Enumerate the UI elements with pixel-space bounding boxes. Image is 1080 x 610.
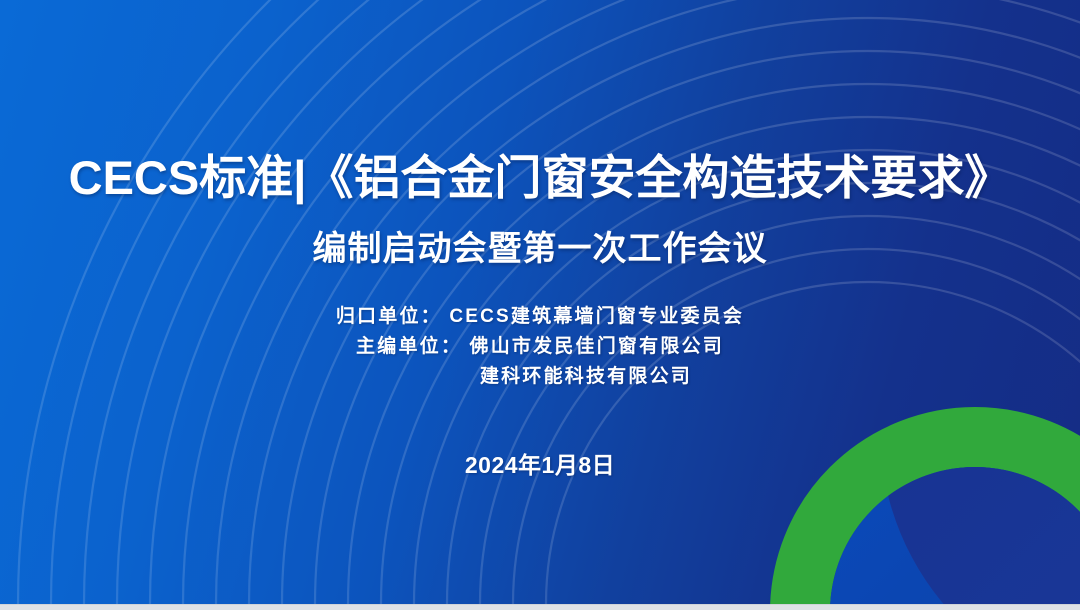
slide-bottom-border (0, 604, 1080, 610)
page-title: CECS标准|《铝合金门窗安全构造技术要求》 (0, 139, 1080, 208)
page-subtitle: 编制启动会暨第一次工作会议 (0, 221, 1080, 270)
slide-canvas: CECS标准|《铝合金门窗安全构造技术要求》 编制启动会暨第一次工作会议 归口单… (0, 0, 1080, 604)
organization-block: 归口单位： CECS建筑幕墙门窗专业委员会 主编单位： 佛山市发民佳门窗有限公司… (0, 302, 1080, 392)
org-line-chief-editor-unit-second: 建科环能科技有限公司 (0, 362, 1080, 392)
meeting-date: 2024年1月8日 (0, 446, 1080, 480)
org-line-chief-editor-unit: 主编单位： 佛山市发民佳门窗有限公司 (0, 332, 1080, 362)
slide-text-content: CECS标准|《铝合金门窗安全构造技术要求》 编制启动会暨第一次工作会议 归口单… (0, 0, 1080, 604)
org-line-supervising-unit: 归口单位： CECS建筑幕墙门窗专业委员会 (0, 302, 1080, 332)
